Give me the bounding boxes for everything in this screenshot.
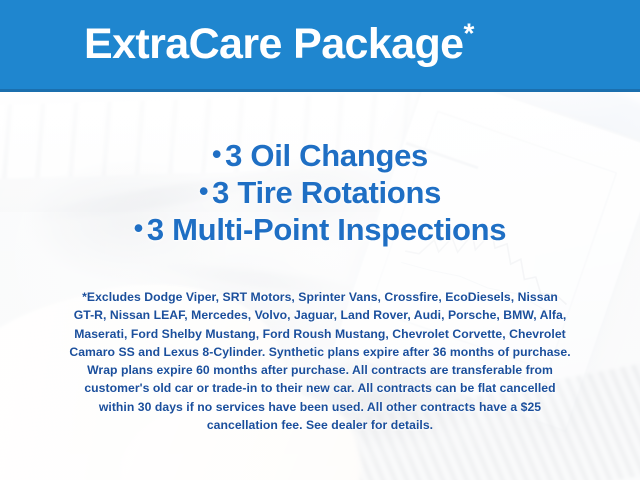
benefit-item-label: 3 Multi-Point Inspections	[147, 212, 506, 247]
disclaimer-line: customer's old car or trade-in to their …	[26, 379, 614, 397]
bullet-icon: •	[199, 176, 208, 206]
disclaimer-line: *Excludes Dodge Viper, SRT Motors, Sprin…	[26, 288, 614, 306]
disclaimer-line: cancellation fee. See dealer for details…	[26, 416, 614, 434]
benefit-item-label: 3 Oil Changes	[225, 138, 428, 173]
disclaimer-line: Camaro SS and Lexus 8-Cylinder. Syntheti…	[26, 343, 614, 361]
disclaimer-line: within 30 days if no services have been …	[26, 398, 614, 416]
extracare-package-banner: ExtraCare Package* •3 Oil Changes •3 Tir…	[0, 0, 640, 480]
benefits-list: •3 Oil Changes •3 Tire Rotations •3 Mult…	[0, 138, 640, 249]
page-title-asterisk: *	[463, 18, 473, 49]
page-title: ExtraCare Package*	[84, 23, 474, 66]
bullet-icon: •	[134, 213, 143, 243]
benefit-item-label: 3 Tire Rotations	[212, 175, 441, 210]
disclaimer-text: *Excludes Dodge Viper, SRT Motors, Sprin…	[26, 288, 614, 434]
benefit-item-multi-point-inspections: •3 Multi-Point Inspections	[0, 212, 640, 249]
benefit-item-oil-changes: •3 Oil Changes	[0, 138, 640, 175]
benefit-item-tire-rotations: •3 Tire Rotations	[0, 175, 640, 212]
bullet-icon: •	[212, 139, 221, 169]
disclaimer-line: Maserati, Ford Shelby Mustang, Ford Rous…	[26, 325, 614, 343]
page-title-text: ExtraCare Package	[84, 20, 463, 68]
header-band: ExtraCare Package*	[0, 0, 640, 92]
disclaimer-line: Wrap plans expire 60 months after purcha…	[26, 361, 614, 379]
disclaimer-line: GT-R, Nissan LEAF, Mercedes, Volvo, Jagu…	[26, 306, 614, 324]
